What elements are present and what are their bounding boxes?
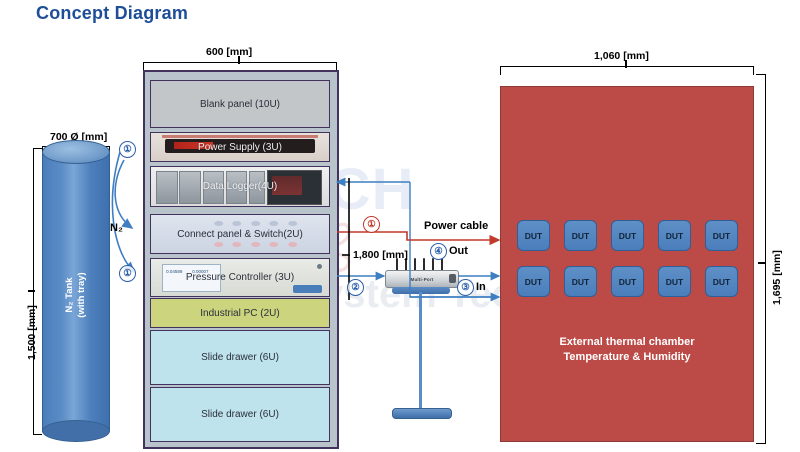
nitrogen-tank-bottom <box>42 420 110 442</box>
dut-label: DUT <box>572 277 589 287</box>
dut-label: DUT <box>525 231 542 241</box>
rack-unit-slide-drawer-2-label: Slide drawer (6U) <box>201 409 279 420</box>
rack-unit-pressure-controller[interactable]: 0.045890.00007 Pressure Controller (3U) <box>150 258 330 297</box>
dut-label: DUT <box>713 277 730 287</box>
dut-r1c2[interactable]: DUT <box>564 220 597 251</box>
rack-unit-connect-panel-label: Connect panel & Switch(2U) <box>177 229 303 240</box>
rack-unit-industrial-pc[interactable]: Industrial PC (2U) <box>150 298 330 328</box>
dut-r1c4[interactable]: DUT <box>658 220 691 251</box>
dut-r2c3[interactable]: DUT <box>611 266 644 297</box>
chamber-title-line1: External thermal chamber <box>559 336 694 348</box>
rack-unit-industrial-pc-label: Industrial PC (2U) <box>200 308 279 319</box>
dut-label: DUT <box>619 231 636 241</box>
rack-width-dimension: 600 [mm] <box>206 46 252 58</box>
dut-r2c2[interactable]: DUT <box>564 266 597 297</box>
dut-r2c4[interactable]: DUT <box>658 266 691 297</box>
data-logger-module-1 <box>156 171 178 204</box>
rack-unit-data-logger-label: Data Logger(4U) <box>203 181 277 192</box>
dut-label: DUT <box>572 231 589 241</box>
multi-port-stand-base <box>392 408 452 419</box>
data-logger-module-2 <box>179 171 201 204</box>
rack-width-tick <box>238 56 240 64</box>
multi-port-device[interactable]: Multi-Port <box>385 270 459 288</box>
dut-label: DUT <box>666 277 683 287</box>
tank-height-tick <box>28 290 35 292</box>
dut-label: DUT <box>525 277 542 287</box>
chamber-title: External thermal chamber Temperature & H… <box>501 335 753 365</box>
rack-unit-data-logger[interactable]: Data Logger(4U) <box>150 166 330 207</box>
callout-3-in: ③ <box>457 279 474 296</box>
page-title: Concept Diagram <box>36 3 188 24</box>
callout-1-power-cable: ① <box>363 216 380 233</box>
chamber-width-bracket <box>500 66 754 75</box>
tank-label-line2: (with tray) <box>76 272 87 317</box>
rack-unit-blank-panel[interactable]: Blank panel (10U) <box>150 80 330 128</box>
n2-line-upper <box>115 160 132 228</box>
diagram-canvas: KSTECH Korea System Technology Concept D… <box>0 0 800 452</box>
rack-unit-pressure-controller-label: Pressure Controller (3U) <box>186 272 294 283</box>
chamber-title-line2: Temperature & Humidity <box>564 351 691 363</box>
out-label: Out <box>449 245 468 257</box>
rack-unit-slide-drawer-1-label: Slide drawer (6U) <box>201 352 279 363</box>
equipment-rack: Blank panel (10U) Power Supply (3U) Data… <box>143 70 339 449</box>
rack-unit-slide-drawer-2[interactable]: Slide drawer (6U) <box>150 387 330 442</box>
dut-r2c1[interactable]: DUT <box>517 266 550 297</box>
dut-r2c5[interactable]: DUT <box>705 266 738 297</box>
dut-label: DUT <box>713 231 730 241</box>
callout-1-lower: ① <box>119 265 136 282</box>
rack-unit-slide-drawer-1[interactable]: Slide drawer (6U) <box>150 330 330 385</box>
external-thermal-chamber: DUT DUT DUT DUT DUT DUT DUT DUT DUT DUT … <box>500 86 754 442</box>
pressure-controller-badge <box>293 285 321 293</box>
chamber-width-dimension: 1,060 [mm] <box>594 50 649 62</box>
rack-unit-power-supply[interactable]: Power Supply (3U) <box>150 132 330 162</box>
callout-2-gas: ② <box>347 279 364 296</box>
multi-port-connector-icon <box>449 274 456 283</box>
multi-port-stand-pole <box>419 292 422 410</box>
callout-1-upper: ① <box>119 141 136 158</box>
nitrogen-tank-label: N₂ Tank (with tray) <box>64 266 88 324</box>
dut-label: DUT <box>666 231 683 241</box>
dut-label: DUT <box>619 277 636 287</box>
dut-r1c1[interactable]: DUT <box>517 220 550 251</box>
multi-port-label: Multi-Port <box>411 277 434 282</box>
in-label: In <box>476 281 486 293</box>
n2-gas-label: N₂ <box>110 222 123 234</box>
power-cable-line <box>337 232 499 240</box>
callout-4-out: ④ <box>430 243 447 260</box>
chamber-height-dimension: 1,695 [mm] <box>771 250 783 305</box>
dut-r1c5[interactable]: DUT <box>705 220 738 251</box>
nitrogen-tank-top <box>42 140 110 164</box>
pressure-controller-indicator <box>317 264 322 269</box>
n2-line-lower <box>112 152 134 272</box>
chamber-width-tick <box>625 60 627 68</box>
chamber-height-tick <box>758 262 766 264</box>
dut-r1c3[interactable]: DUT <box>611 220 644 251</box>
span-dimension: 1,800 [mm] <box>353 249 408 261</box>
rack-unit-connect-panel[interactable]: Connect panel & Switch(2U) <box>150 214 330 254</box>
chamber-height-bracket <box>756 74 766 444</box>
tank-label-line1: N₂ Tank <box>64 277 75 312</box>
rack-unit-blank-panel-label: Blank panel (10U) <box>200 99 280 110</box>
rack-unit-power-supply-label: Power Supply (3U) <box>198 142 282 153</box>
power-cable-label: Power cable <box>424 220 488 232</box>
power-supply-trim <box>162 135 319 138</box>
